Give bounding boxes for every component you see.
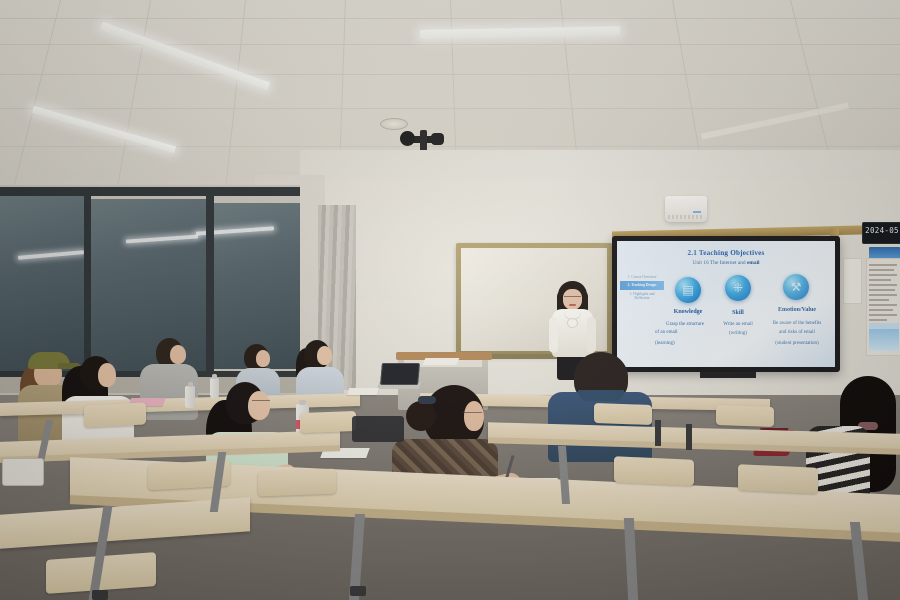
chair-back bbox=[84, 402, 146, 427]
desk-foot bbox=[350, 586, 366, 596]
glasses-icon bbox=[462, 412, 482, 418]
document-globe-icon: ▤ bbox=[675, 277, 701, 303]
chair-frame bbox=[655, 420, 661, 446]
desk-bag-dark bbox=[352, 416, 404, 442]
presenter-mouth bbox=[569, 304, 576, 306]
chair-frame bbox=[686, 424, 692, 450]
slide-nav-item-3[interactable]: 3. Highlights and Reflection bbox=[620, 290, 664, 303]
slide-nav: 1. Course Overview 2. Teaching Design 3.… bbox=[620, 273, 664, 303]
network-globe-icon: ⁜ bbox=[725, 275, 751, 301]
slide-subtitle-prefix: Unit 16 The Internet and bbox=[692, 260, 747, 266]
slide-col3-line3: (student presentation) bbox=[757, 340, 835, 347]
presenter-bow bbox=[568, 319, 577, 327]
wall-notice-small bbox=[843, 258, 862, 304]
slide-col1-line3: (learning) bbox=[650, 340, 725, 347]
desk-foot bbox=[92, 590, 108, 600]
people-globe-icon: ⚒ bbox=[783, 274, 809, 300]
ceiling-speaker-icon bbox=[380, 118, 408, 130]
chair-back bbox=[594, 403, 652, 425]
water-bottle bbox=[185, 386, 195, 408]
student-face bbox=[317, 346, 332, 365]
presentation-screen[interactable]: 2.1 Teaching Objectives Unit 16 The Inte… bbox=[617, 241, 835, 367]
handbag bbox=[2, 458, 44, 486]
chair-back-front bbox=[258, 469, 336, 497]
ac-led-indicator bbox=[693, 211, 701, 213]
slide-col3-heading: Emotion/Value bbox=[759, 307, 835, 313]
hair-bun bbox=[406, 401, 436, 431]
air-conditioner-unit bbox=[665, 196, 707, 222]
presenter-arm bbox=[549, 317, 558, 353]
classroom-photo: 2024-05 2.1 Teaching Objectives Unit 16 … bbox=[0, 0, 900, 600]
poster-image-block bbox=[869, 329, 899, 351]
presenter-arm bbox=[587, 317, 596, 353]
slide-title: 2.1 Teaching Objectives bbox=[617, 249, 835, 257]
chair-back bbox=[300, 411, 356, 433]
slide-nav-item-2[interactable]: 2. Teaching Design bbox=[620, 281, 664, 289]
wall-poster bbox=[866, 258, 900, 356]
screen-stand bbox=[700, 372, 756, 378]
ceiling-camera-lens-icon bbox=[400, 131, 415, 146]
slide-col3-line2: and risks of email bbox=[759, 329, 835, 336]
chair-back-front bbox=[738, 464, 818, 493]
glasses-icon bbox=[252, 400, 270, 405]
chair-back bbox=[716, 405, 774, 427]
student-face bbox=[98, 363, 116, 387]
hair-clip-icon bbox=[418, 396, 436, 404]
lectern-paper bbox=[423, 358, 460, 365]
slide-nav-item-1[interactable]: 1. Course Overview bbox=[620, 273, 664, 281]
student-face bbox=[256, 350, 270, 367]
student-face bbox=[248, 391, 270, 420]
slide-col3-line1: Be aware of the benefits bbox=[759, 320, 835, 327]
slide-subtitle-bold: email bbox=[747, 260, 760, 266]
chair-back-front bbox=[614, 456, 694, 485]
digital-clock-display: 2024-05 bbox=[862, 222, 900, 244]
slide-subtitle: Unit 16 The Internet and email bbox=[617, 260, 835, 266]
student-face bbox=[170, 345, 186, 364]
glasses-icon bbox=[564, 296, 581, 301]
laptop-screen[interactable] bbox=[380, 363, 420, 385]
ceiling-camera-lens-icon bbox=[431, 133, 444, 145]
clock-text: 2024-05 bbox=[863, 226, 900, 235]
notebook-paper bbox=[347, 388, 379, 395]
polo-collar bbox=[578, 390, 624, 401]
